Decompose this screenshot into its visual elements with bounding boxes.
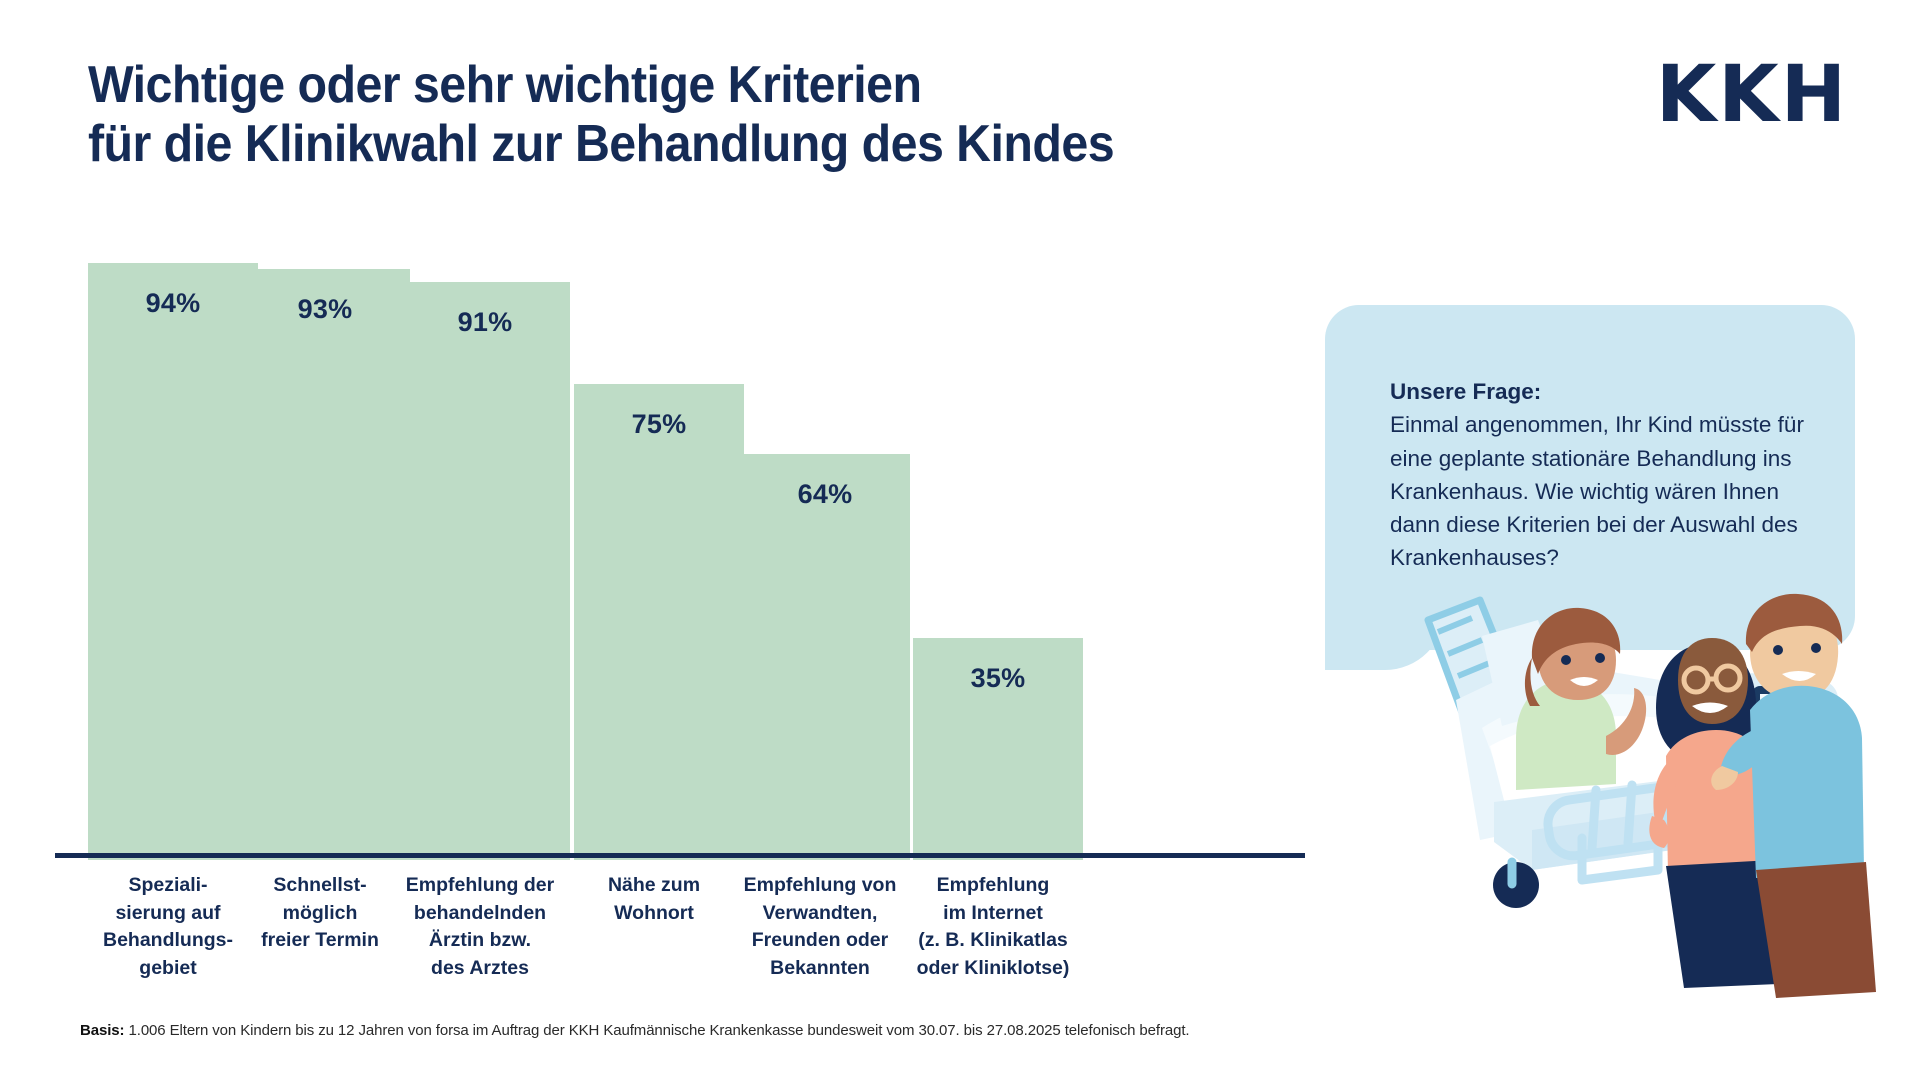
footnote-text: 1.006 Eltern von Kindern bis zu 12 Jahre… [124,1022,1189,1039]
bar-value-label: 35% [913,663,1083,694]
bar-slot: 75% [574,220,744,860]
category-label: Empfehlung im Internet (z. B. Klinikatla… [878,872,1108,983]
bar[interactable] [88,263,258,860]
bar-slot: 64% [740,220,910,860]
infographic-root: Wichtige oder sehr wichtige Kriterien fü… [0,0,1920,1080]
bar-slot: 35% [913,220,1083,860]
bar[interactable] [400,282,570,860]
footnote-label: Basis: [80,1022,124,1039]
page-title: Wichtige oder sehr wichtige Kriterien fü… [88,56,1185,175]
chart-baseline-axis [55,853,1305,858]
bar-value-label: 64% [740,479,910,510]
kkh-logo: KKH [1656,56,1848,134]
hospital-bed-family-illustration [1420,540,1890,1040]
bar-slot: 94% [88,220,258,860]
bar-value-label: 94% [88,288,258,319]
bar-slot: 93% [240,220,410,860]
bar-value-label: 93% [240,294,410,325]
question-lead: Unsere Frage: [1390,375,1820,408]
bar-value-label: 91% [400,307,570,338]
bar[interactable] [240,269,410,860]
bar-value-label: 75% [574,409,744,440]
bar-chart: 94%93%91%75%64%35% [55,220,1310,860]
footnote: Basis: 1.006 Eltern von Kindern bis zu 1… [80,1022,1189,1039]
bar-slot: 91% [400,220,570,860]
bar[interactable] [574,384,744,860]
bar[interactable] [740,454,910,860]
